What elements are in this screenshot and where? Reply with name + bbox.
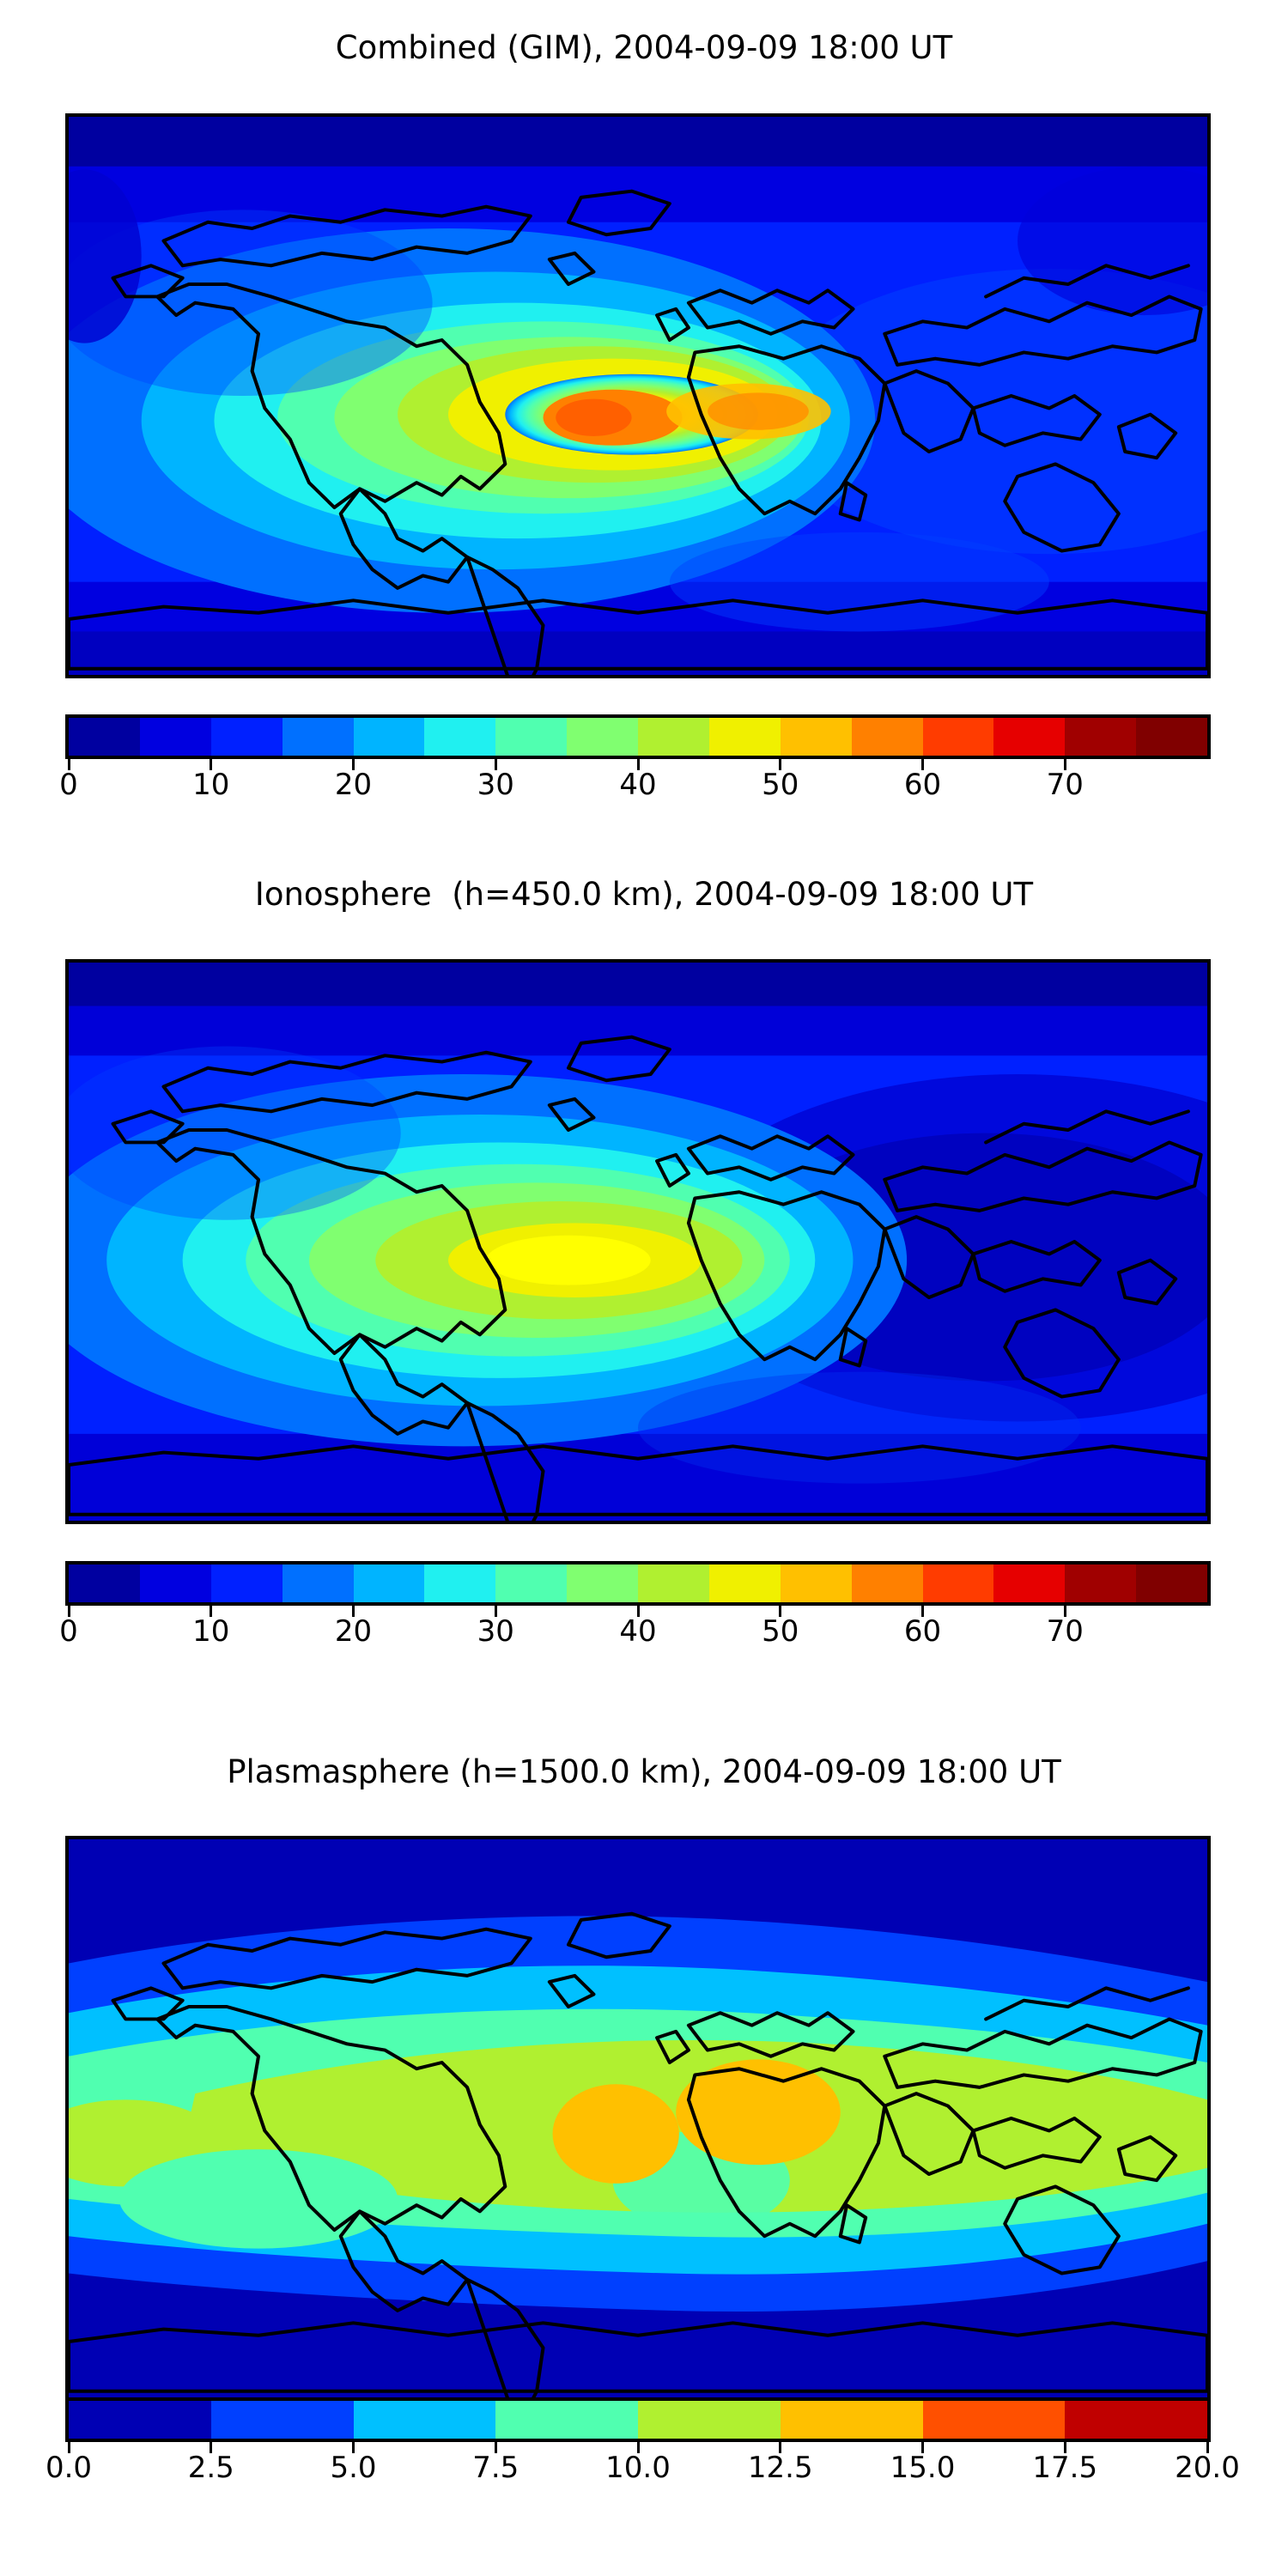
map-ionosphere	[65, 959, 1211, 1524]
colorbar-tick-label: 30	[477, 1614, 514, 1649]
colorbar-segment	[69, 2401, 211, 2439]
colorbar-tick-label: 70	[1047, 768, 1084, 802]
colorbar-segment	[709, 718, 781, 756]
colorbar-tick-label: 20	[335, 1614, 372, 1649]
contour-field-combined-gim	[69, 117, 1207, 675]
colorbar-segment	[140, 718, 211, 756]
colorbar-segment	[638, 718, 709, 756]
colorbar-segment	[211, 1564, 283, 1602]
figure-root: Combined (GIM), 2004-09-09 18:00 UT	[0, 0, 1288, 2576]
colorbar-tick-label: 20	[335, 768, 372, 802]
colorbar-segment	[424, 1564, 495, 1602]
colorbar-segment	[781, 718, 852, 756]
panel-title-combined-gim: Combined (GIM), 2004-09-09 18:00 UT	[0, 29, 1288, 66]
colorbar-segment	[283, 718, 354, 756]
contour-field-plasmasphere	[69, 1839, 1207, 2397]
colorbar-tick-label: 7.5	[472, 2451, 519, 2485]
colorbar-labels-combined-gim: 010203040506070	[65, 768, 1211, 807]
map-field-plasmasphere	[69, 1839, 1207, 2397]
colorbar-tick-label: 12.5	[748, 2451, 813, 2485]
colorbar-tick-label: 20.0	[1175, 2451, 1240, 2485]
colorbar-combined-gim: 010203040506070	[65, 714, 1211, 817]
colorbar-segment	[354, 1564, 425, 1602]
colorbar-segment	[495, 718, 567, 756]
colorbar-segment	[354, 718, 425, 756]
colorbar-segment	[211, 718, 283, 756]
colorbar-tick-label: 60	[904, 768, 941, 802]
colorbar-labels-ionosphere: 010203040506070	[65, 1614, 1211, 1654]
colorbar-segment	[69, 1564, 140, 1602]
colorbar-tick-label: 10	[192, 768, 229, 802]
colorbar-segment	[1065, 1564, 1136, 1602]
colorbar-segment	[567, 1564, 638, 1602]
colorbar-tick-label: 40	[619, 1614, 656, 1649]
colorbar-segment	[567, 718, 638, 756]
colorbar-segment	[638, 1564, 709, 1602]
colorbar-segment	[923, 1564, 994, 1602]
colorbar-gradient-ionosphere	[65, 1561, 1211, 1606]
colorbar-segment	[781, 2401, 923, 2439]
colorbar-segment	[993, 1564, 1065, 1602]
colorbar-gradient-plasmasphere	[65, 2397, 1211, 2442]
colorbar-segment	[140, 1564, 211, 1602]
colorbar-tick-label: 15.0	[890, 2451, 956, 2485]
contour-field-ionosphere	[69, 963, 1207, 1521]
colorbar-segment	[852, 718, 923, 756]
colorbar-segment	[923, 2401, 1066, 2439]
colorbar-segment	[709, 1564, 781, 1602]
colorbar-ionosphere: 010203040506070	[65, 1561, 1211, 1664]
map-plasmasphere	[65, 1836, 1211, 2401]
colorbar-tick-label: 2.5	[188, 2451, 234, 2485]
colorbar-segment	[1136, 718, 1207, 756]
colorbar-tick-label: 5.0	[330, 2451, 376, 2485]
colorbar-segment	[1136, 1564, 1207, 1602]
colorbar-gradient-combined-gim	[65, 714, 1211, 759]
colorbar-segment	[495, 1564, 567, 1602]
panel-title-plasmasphere: Plasmasphere (h=1500.0 km), 2004-09-09 1…	[0, 1753, 1288, 1790]
colorbar-segment	[781, 1564, 852, 1602]
colorbar-segment	[69, 718, 140, 756]
colorbar-plasmasphere: 0.02.55.07.510.012.515.017.520.0	[65, 2397, 1211, 2500]
colorbar-tick-label: 0	[59, 1614, 78, 1649]
colorbar-segment	[211, 2401, 354, 2439]
colorbar-tick-label: 60	[904, 1614, 941, 1649]
colorbar-tick-label: 0.0	[46, 2451, 92, 2485]
colorbar-segment	[923, 718, 994, 756]
map-field-ionosphere	[69, 963, 1207, 1521]
colorbar-segment	[852, 1564, 923, 1602]
colorbar-tick-label: 30	[477, 768, 514, 802]
colorbar-segment	[993, 718, 1065, 756]
colorbar-segment	[495, 2401, 638, 2439]
panel-title-ionosphere: Ionosphere (h=450.0 km), 2004-09-09 18:0…	[0, 876, 1288, 913]
colorbar-tick-label: 40	[619, 768, 656, 802]
colorbar-segment	[638, 2401, 781, 2439]
colorbar-tick-label: 70	[1047, 1614, 1084, 1649]
colorbar-segment	[354, 2401, 496, 2439]
colorbar-tick-label: 50	[762, 768, 799, 802]
colorbar-labels-plasmasphere: 0.02.55.07.510.012.515.017.520.0	[65, 2451, 1211, 2490]
colorbar-tick-label: 50	[762, 1614, 799, 1649]
map-field-combined-gim	[69, 117, 1207, 675]
colorbar-segment	[1065, 2401, 1207, 2439]
colorbar-segment	[424, 718, 495, 756]
map-combined-gim	[65, 113, 1211, 678]
colorbar-tick-label: 10	[192, 1614, 229, 1649]
colorbar-segment	[283, 1564, 354, 1602]
colorbar-segment	[1065, 718, 1136, 756]
colorbar-tick-label: 17.5	[1032, 2451, 1097, 2485]
colorbar-tick-label: 0	[59, 768, 78, 802]
colorbar-tick-label: 10.0	[605, 2451, 671, 2485]
